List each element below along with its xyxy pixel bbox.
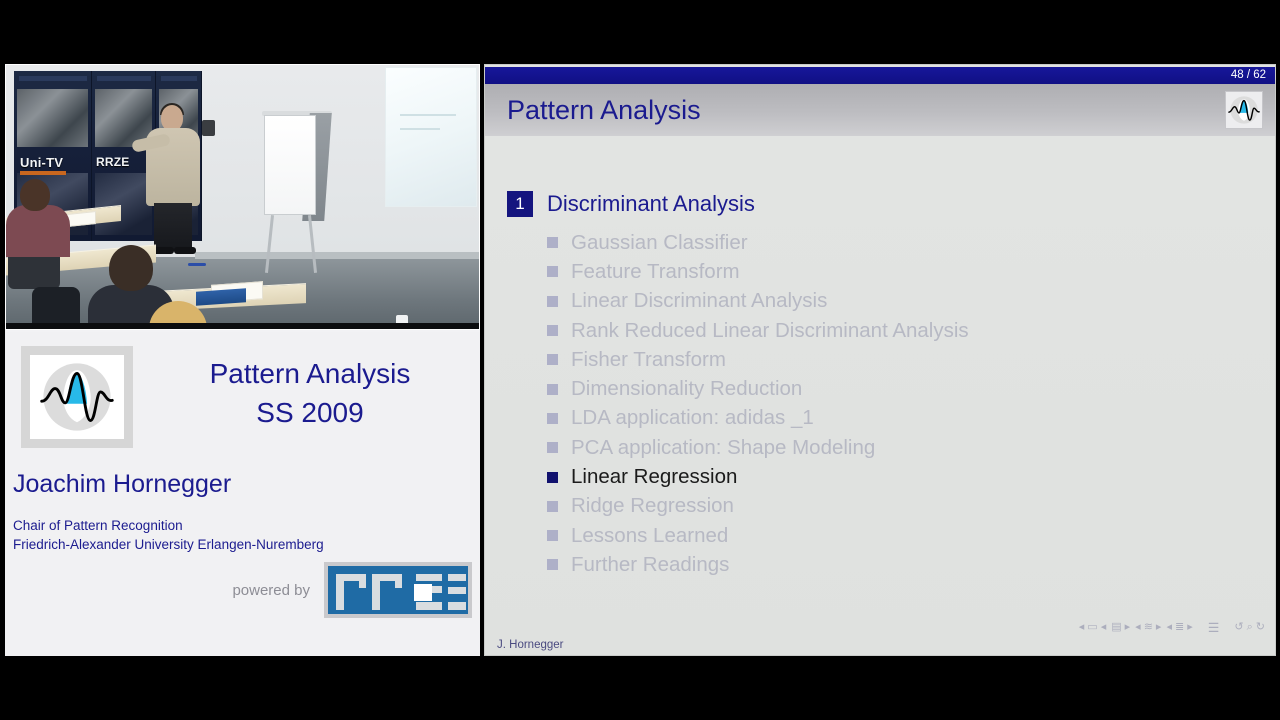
forward-icon[interactable]: ↻ — [1256, 622, 1265, 633]
toc-bullet-icon — [547, 413, 558, 424]
lecturer-shoe-right — [174, 247, 196, 254]
search-icon[interactable]: ⌕ — [1247, 622, 1253, 633]
banner-rrze-text: RRZE — [96, 155, 129, 169]
rrze-logo-icon — [324, 562, 472, 618]
toc-bullet-icon — [547, 325, 558, 336]
powered-by-label: powered by — [232, 582, 310, 599]
video-baseboard — [195, 252, 479, 259]
subsection-prev-icon[interactable]: ◂ — [1166, 622, 1172, 633]
toc-item[interactable]: Further Readings — [547, 550, 1247, 579]
powered-by-block: powered by — [232, 562, 472, 618]
section-prev-icon[interactable]: ◂ — [1135, 622, 1141, 633]
toc-list: Gaussian ClassifierFeature TransformLine… — [547, 228, 1247, 580]
toc-bullet-icon — [547, 384, 558, 395]
student-1-head — [20, 179, 50, 211]
course-logo — [21, 346, 133, 448]
toc-item-label: Fisher Transform — [571, 348, 726, 372]
student-1-body — [6, 205, 70, 257]
flipchart-board — [264, 115, 316, 215]
toc-item-label: Feature Transform — [571, 260, 740, 284]
pen — [188, 263, 206, 266]
slide-header-logo — [1225, 91, 1263, 129]
toc-item[interactable]: Fisher Transform — [547, 345, 1247, 374]
section-title: Discriminant Analysis — [547, 191, 755, 217]
toc-section-header[interactable]: 1 Discriminant Analysis — [507, 191, 755, 217]
next-slide-icon[interactable]: ▸ — [1125, 622, 1131, 633]
section-number-badge: 1 — [507, 191, 533, 217]
slide-body: 1 Discriminant Analysis Gaussian Classif… — [485, 136, 1275, 656]
doc-icon[interactable]: ☰ — [1208, 622, 1220, 633]
toc-bullet-icon — [547, 472, 558, 483]
toc-item-label: Dimensionality Reduction — [571, 377, 802, 401]
toc-item[interactable]: PCA application: Shape Modeling — [547, 433, 1247, 462]
toc-bullet-icon — [547, 354, 558, 365]
toc-bullet-icon — [547, 559, 558, 570]
back-icon[interactable]: ↺ — [1234, 622, 1243, 633]
course-title-block: Pattern Analysis SS 2009 — [150, 354, 470, 432]
beamer-nav-icons[interactable]: ◂ ▭ ◂ ▤ ▸ ◂ ≋ ▸ ◂ ≣ ▸ — [1079, 622, 1265, 633]
toc-item-label: PCA application: Shape Modeling — [571, 436, 875, 460]
toc-item-label: Lessons Learned — [571, 524, 728, 548]
lecturer-legs — [154, 203, 192, 251]
lecture-video[interactable]: Uni-TV RRZE — [5, 64, 480, 330]
section-icon[interactable]: ≋ — [1144, 622, 1153, 633]
toc-bullet-icon — [547, 501, 558, 512]
title-card: Pattern Analysis SS 2009 Joachim Hornegg… — [5, 332, 480, 656]
subsection-next-icon[interactable]: ▸ — [1187, 622, 1193, 633]
prev-slide-icon[interactable]: ◂ — [1101, 622, 1107, 633]
toc-item[interactable]: Lessons Learned — [547, 521, 1247, 550]
page-counter: 48 / 62 — [1231, 67, 1266, 84]
toc-bullet-icon — [547, 237, 558, 248]
prev-frame-icon[interactable]: ▭ — [1087, 622, 1097, 633]
slide-title: Pattern Analysis — [507, 84, 701, 136]
screen-root: Uni-TV RRZE — [0, 0, 1280, 720]
slide-footer-author: J. Hornegger — [497, 639, 563, 651]
toc-item[interactable]: Ridge Regression — [547, 492, 1247, 521]
affiliation: Chair of Pattern Recognition Friedrich-A… — [13, 516, 324, 554]
subsection-icon[interactable]: ≣ — [1175, 622, 1184, 633]
course-term: SS 2009 — [150, 393, 470, 432]
toc-item[interactable]: Linear Discriminant Analysis — [547, 287, 1247, 316]
toc-item[interactable]: Gaussian Classifier — [547, 228, 1247, 257]
slide-panel[interactable]: 48 / 62 Pattern Analysis 1 Discriminant … — [484, 64, 1276, 656]
toc-item[interactable]: Linear Regression — [547, 462, 1247, 491]
toc-bullet-icon — [547, 530, 558, 541]
toc-item[interactable]: LDA application: adidas _1 — [547, 404, 1247, 433]
wall-control-box — [202, 120, 215, 136]
author-name: Joachim Hornegger — [13, 470, 231, 499]
toc-item[interactable]: Rank Reduced Linear Discriminant Analysi… — [547, 316, 1247, 345]
banner-uni-tv-text: Uni-TV — [20, 155, 63, 170]
section-next-icon[interactable]: ▸ — [1156, 622, 1162, 633]
toc-bullet-icon — [547, 442, 558, 453]
beamer-home-icon[interactable]: ▤ — [1111, 622, 1121, 633]
student-2-head — [109, 245, 153, 291]
left-panel: Uni-TV RRZE — [5, 64, 480, 656]
toc-item-label: Linear Regression — [571, 465, 737, 489]
slide-topbar: 48 / 62 — [485, 67, 1275, 84]
gaussian-wave-logo-icon — [1226, 92, 1262, 128]
toc-item[interactable]: Dimensionality Reduction — [547, 374, 1247, 403]
toc-item-label: Further Readings — [571, 553, 729, 577]
course-title: Pattern Analysis — [150, 354, 470, 393]
toc-bullet-icon — [547, 296, 558, 307]
first-slide-icon[interactable]: ◂ — [1079, 622, 1085, 633]
toc-item-label: LDA application: adidas _1 — [571, 406, 814, 430]
toc-item-label: Linear Discriminant Analysis — [571, 289, 827, 313]
toc-item-label: Ridge Regression — [571, 494, 734, 518]
gaussian-wave-logo-icon — [30, 355, 124, 439]
video-bottom-strip — [6, 323, 479, 329]
affiliation-line-1: Chair of Pattern Recognition — [13, 516, 324, 535]
toc-item[interactable]: Feature Transform — [547, 257, 1247, 286]
affiliation-line-2: Friedrich-Alexander University Erlangen-… — [13, 535, 324, 554]
toc-item-label: Rank Reduced Linear Discriminant Analysi… — [571, 319, 969, 343]
projection-screen — [385, 67, 477, 207]
toc-item-label: Gaussian Classifier — [571, 231, 748, 255]
toc-bullet-icon — [547, 266, 558, 277]
